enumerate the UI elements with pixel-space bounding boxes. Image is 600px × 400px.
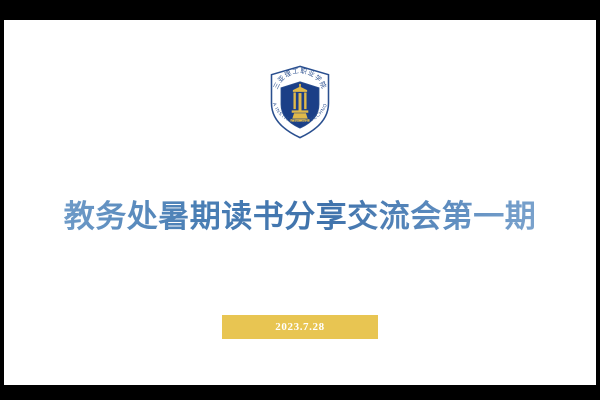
date-badge: 2023.7.28 [222,315,378,339]
logo-container: 三亚理工职业学院 SANYA INSTITUTE OF TECHNOLOGY [4,64,596,140]
letterbox-bottom-bar [0,385,600,400]
presentation-viewport: 三亚理工职业学院 SANYA INSTITUTE OF TECHNOLOGY 教… [0,0,600,400]
slide-canvas: 三亚理工职业学院 SANYA INSTITUTE OF TECHNOLOGY 教… [4,20,596,385]
page-title: 教务处暑期读书分享交流会第一期 [64,198,537,237]
sanya-institute-of-technology-shield-logo: 三亚理工职业学院 SANYA INSTITUTE OF TECHNOLOGY [264,64,336,140]
date-badge-label: 2023.7.28 [275,322,324,333]
letterbox-top-bar [0,0,600,20]
date-badge-container: 2023.7.28 [4,315,596,339]
title-container: 教务处暑期读书分享交流会第一期 [4,198,596,237]
